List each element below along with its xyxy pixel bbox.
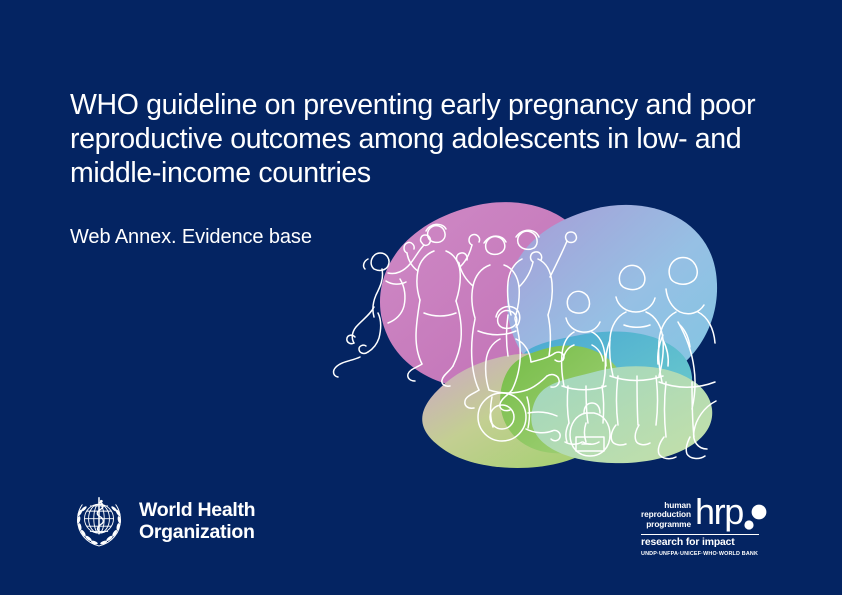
hrp-programme-name: human reproduction programme — [641, 501, 691, 532]
hrp-logo: human reproduction programme hrp researc… — [641, 494, 776, 558]
hrp-partners: UNDP·UNFPA·UNICEF·WHO·WORLD BANK — [641, 549, 776, 558]
page-subtitle: Web Annex. Evidence base — [70, 190, 770, 250]
who-logo: World Health Organization — [70, 492, 255, 550]
cover-page: WHO guideline on preventing early pregna… — [0, 0, 842, 595]
who-emblem-icon — [70, 492, 128, 550]
hrp-wordmark-icon: hrp — [695, 494, 771, 532]
hrp-tagline: research for impact — [641, 535, 776, 549]
who-wordmark: World Health Organization — [139, 499, 255, 543]
page-title: WHO guideline on preventing early pregna… — [70, 88, 770, 190]
svg-text:hrp: hrp — [695, 494, 743, 532]
title-block: WHO guideline on preventing early pregna… — [70, 88, 770, 250]
rod-of-asclepius-icon — [97, 498, 103, 534]
